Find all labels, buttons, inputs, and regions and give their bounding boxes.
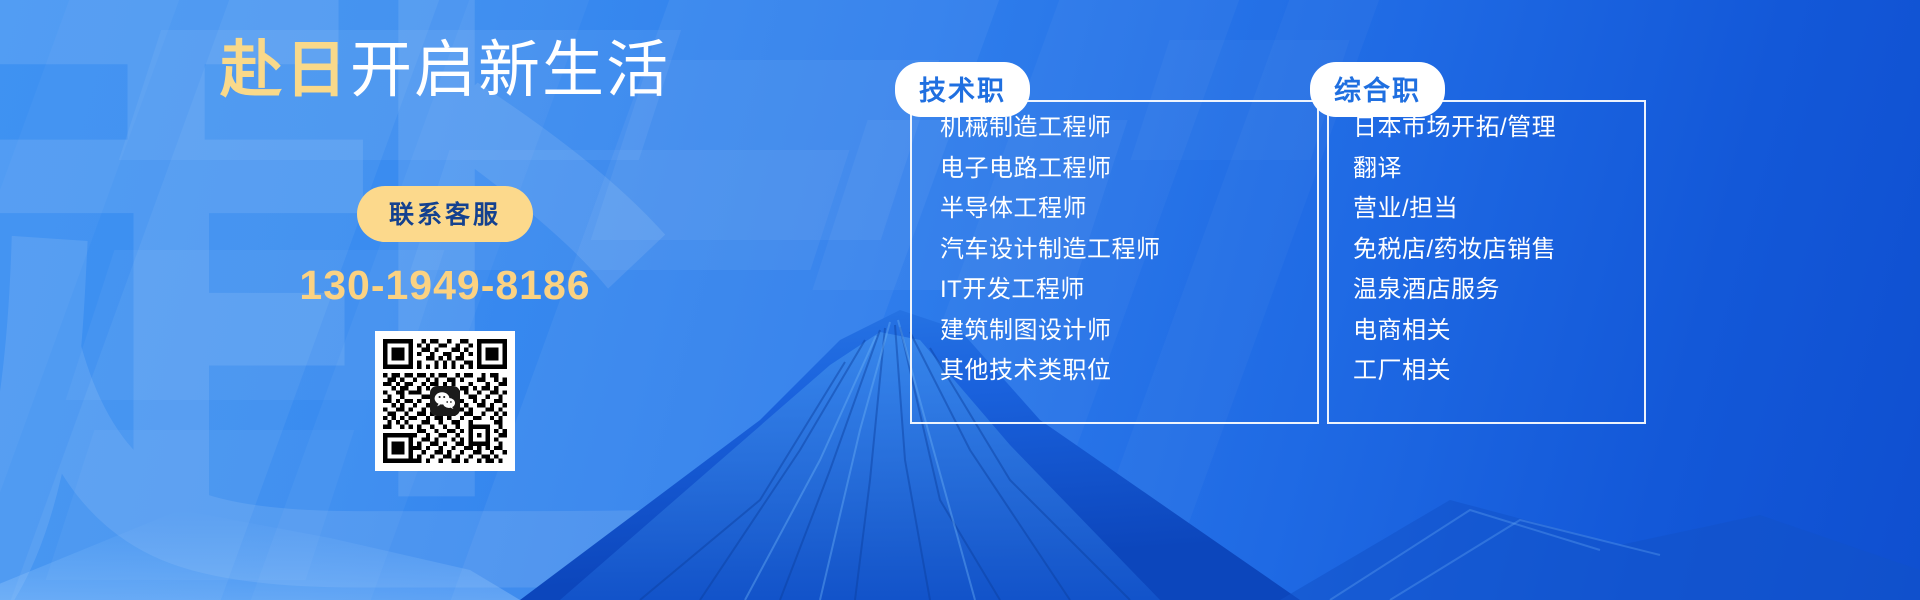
promo-left-panel: 赴日开启新生活 联系客服 130-1949-8186 xyxy=(210,34,680,476)
list-item[interactable]: 半导体工程师 xyxy=(940,189,1161,230)
headline-highlight: 赴日 xyxy=(220,36,350,105)
list-item[interactable]: 其他技术类职位 xyxy=(940,351,1161,392)
wechat-glyph xyxy=(434,392,456,410)
page-title: 赴日开启新生活 xyxy=(210,34,680,108)
category-technical-list: 机械制造工程师 电子电路工程师 半导体工程师 汽车设计制造工程师 IT开发工程师… xyxy=(940,108,1161,392)
promo-banner: 赴 xyxy=(0,0,1920,600)
list-item[interactable]: 温泉酒店服务 xyxy=(1353,270,1556,311)
list-item[interactable]: 工厂相关 xyxy=(1353,351,1556,392)
list-item[interactable]: 免税店/药妆店销售 xyxy=(1353,230,1556,271)
list-item[interactable]: 汽车设计制造工程师 xyxy=(940,230,1161,271)
list-item[interactable]: 电商相关 xyxy=(1353,311,1556,352)
qr-code[interactable] xyxy=(375,331,515,471)
list-item[interactable]: 营业/担当 xyxy=(1353,189,1556,230)
wechat-icon xyxy=(430,386,460,416)
contact-support-button[interactable]: 联系客服 xyxy=(357,186,533,242)
list-item[interactable]: 电子电路工程师 xyxy=(940,149,1161,190)
list-item[interactable]: 翻译 xyxy=(1353,149,1556,190)
qr-canvas xyxy=(383,339,507,463)
list-item[interactable]: 建筑制图设计师 xyxy=(940,311,1161,352)
phone-number[interactable]: 130-1949-8186 xyxy=(210,262,680,309)
category-general-label[interactable]: 综合职 xyxy=(1310,62,1445,117)
category-general-list: 日本市场开拓/管理 翻译 营业/担当 免税店/药妆店销售 温泉酒店服务 电商相关… xyxy=(1353,108,1556,392)
list-item[interactable]: IT开发工程师 xyxy=(940,270,1161,311)
category-technical-label[interactable]: 技术职 xyxy=(895,62,1030,117)
headline-rest: 开启新生活 xyxy=(350,36,670,105)
